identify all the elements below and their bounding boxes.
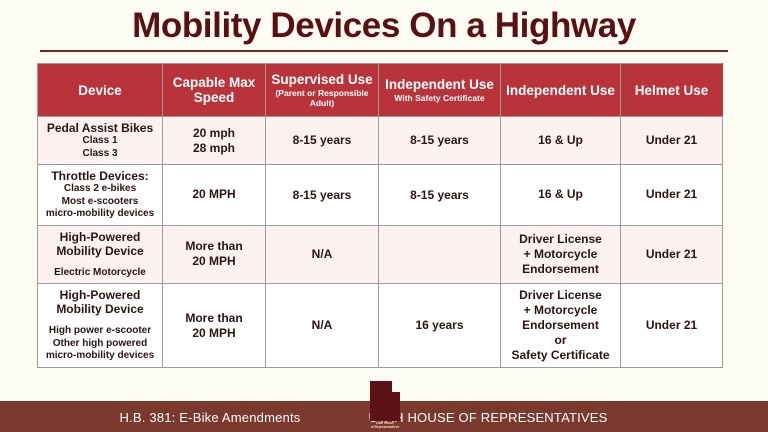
device-subtitle: Class 3: [41, 148, 159, 161]
cell-supervised-use: N/A: [266, 225, 379, 284]
device-subtitle: Most e-scooters: [41, 196, 159, 209]
column-header-independent-use-with-certificate: Independent Use With Safety Certificate: [379, 64, 501, 117]
independent-use-value: + Motorcycle: [504, 247, 617, 262]
device-subtitle: micro-mobility devices: [41, 208, 159, 221]
independent-use-value: Driver License: [504, 232, 617, 247]
cell-independent-use: Driver License + Motorcycle Endorsement …: [501, 284, 621, 368]
device-title: High-Powered Mobility Device: [41, 230, 159, 258]
helmet-use-value: Under 21: [624, 318, 719, 333]
independent-use-value: Driver License: [504, 288, 617, 303]
cell-independent-use-certificate: 8-15 years: [379, 165, 501, 226]
supervised-use-value: 8-15 years: [269, 188, 375, 203]
table-row: High-Powered Mobility Device Electric Mo…: [38, 225, 723, 284]
cell-device: High-Powered Mobility Device Electric Mo…: [38, 225, 163, 284]
table-row: Pedal Assist Bikes Class 1 Class 3 20 mp…: [38, 117, 723, 165]
device-subtitle: Other high powered: [41, 338, 159, 351]
device-subtitle: Class 2 e-bikes: [41, 183, 159, 196]
independent-use-cert-value: 16 years: [382, 318, 497, 333]
cell-helmet-use: Under 21: [621, 225, 723, 284]
mobility-devices-table: Device Capable Max Speed Supervised Use …: [37, 63, 723, 368]
cell-helmet-use: Under 21: [621, 284, 723, 368]
cell-independent-use-certificate: 8-15 years: [379, 117, 501, 165]
independent-use-value: 16 & Up: [504, 187, 617, 202]
cell-max-speed: More than 20 MPH: [163, 284, 266, 368]
title-underline-rule: [40, 50, 728, 52]
header-main-text: Independent Use: [501, 83, 620, 98]
independent-use-value: Endorsement: [504, 318, 617, 333]
device-subtitle: micro-mobility devices: [41, 350, 159, 363]
speed-value: 20 MPH: [166, 254, 262, 269]
column-header-helmet-use: Helmet Use: [621, 64, 723, 117]
column-header-supervised-use: Supervised Use (Parent or Responsible Ad…: [266, 64, 379, 117]
cell-independent-use-certificate: 16 years: [379, 284, 501, 368]
header-main-text: Capable Max Speed: [163, 75, 265, 105]
table-row: High-Powered Mobility Device High power …: [38, 284, 723, 368]
device-subtitle: Electric Motorcycle: [41, 267, 159, 280]
column-header-independent-use: Independent Use: [501, 64, 621, 117]
header-main-text: Device: [38, 83, 162, 98]
cell-independent-use: 16 & Up: [501, 117, 621, 165]
speed-value: More than: [166, 239, 262, 254]
header-main-text: Helmet Use: [621, 83, 722, 98]
independent-use-value: 16 & Up: [504, 133, 617, 148]
cell-helmet-use: Under 21: [621, 117, 723, 165]
helmet-use-value: Under 21: [624, 133, 719, 148]
cell-supervised-use: 8-15 years: [266, 117, 379, 165]
device-subtitle: Class 1: [41, 135, 159, 148]
header-sub-text: With Safety Certificate: [379, 93, 500, 103]
cell-max-speed: 20 mph 28 mph: [163, 117, 266, 165]
cell-device: Throttle Devices: Class 2 e-bikes Most e…: [38, 165, 163, 226]
cell-device: Pedal Assist Bikes Class 1 Class 3: [38, 117, 163, 165]
logo-caption: Utah House of Representatives: [366, 421, 404, 429]
independent-use-value: + Motorcycle: [504, 303, 617, 318]
utah-state-outline-icon: [366, 381, 404, 421]
cell-supervised-use: N/A: [266, 284, 379, 368]
header-sub-text: (Parent or Responsible Adult): [266, 88, 378, 108]
cell-max-speed: More than 20 MPH: [163, 225, 266, 284]
independent-use-value: Endorsement: [504, 262, 617, 277]
cell-independent-use: 16 & Up: [501, 165, 621, 226]
page-title: Mobility Devices On a Highway: [124, 6, 644, 48]
device-title: Pedal Assist Bikes: [41, 121, 159, 135]
helmet-use-value: Under 21: [624, 247, 719, 262]
speed-value: 28 mph: [166, 141, 262, 156]
table-header-row: Device Capable Max Speed Supervised Use …: [38, 64, 723, 117]
device-title: Throttle Devices:: [41, 169, 159, 183]
logo-caption-line-2: of Representatives: [366, 425, 404, 429]
supervised-use-value: N/A: [269, 247, 375, 262]
independent-use-cert-value: 8-15 years: [382, 188, 497, 203]
table-row: Throttle Devices: Class 2 e-bikes Most e…: [38, 165, 723, 226]
utah-house-logo: Utah House of Representatives: [366, 381, 404, 429]
supervised-use-value: 8-15 years: [269, 133, 375, 148]
device-title: High-Powered Mobility Device: [41, 288, 159, 316]
independent-use-cert-value: 8-15 years: [382, 133, 497, 148]
speed-value: More than: [166, 311, 262, 326]
header-main-text: Supervised Use: [266, 72, 378, 87]
footer-organization-label: UTAH HOUSE OF REPRESENTATIVES: [208, 410, 768, 425]
independent-use-value: or: [504, 333, 617, 348]
column-header-capable-max-speed: Capable Max Speed: [163, 64, 266, 117]
cell-independent-use: Driver License + Motorcycle Endorsement: [501, 225, 621, 284]
helmet-use-value: Under 21: [624, 187, 719, 202]
cell-supervised-use: 8-15 years: [266, 165, 379, 226]
speed-value: 20 mph: [166, 126, 262, 141]
speed-value: 20 MPH: [166, 187, 262, 202]
independent-use-value: Safety Certificate: [504, 348, 617, 363]
cell-device: High-Powered Mobility Device High power …: [38, 284, 163, 368]
column-header-device: Device: [38, 64, 163, 117]
cell-independent-use-certificate: [379, 225, 501, 284]
speed-value: 20 MPH: [166, 326, 262, 341]
header-main-text: Independent Use: [379, 77, 500, 92]
cell-max-speed: 20 MPH: [163, 165, 266, 226]
cell-helmet-use: Under 21: [621, 165, 723, 226]
supervised-use-value: N/A: [269, 318, 375, 333]
device-subtitle: High power e-scooter: [41, 325, 159, 338]
page-title-container: Mobility Devices On a Highway: [0, 6, 768, 48]
